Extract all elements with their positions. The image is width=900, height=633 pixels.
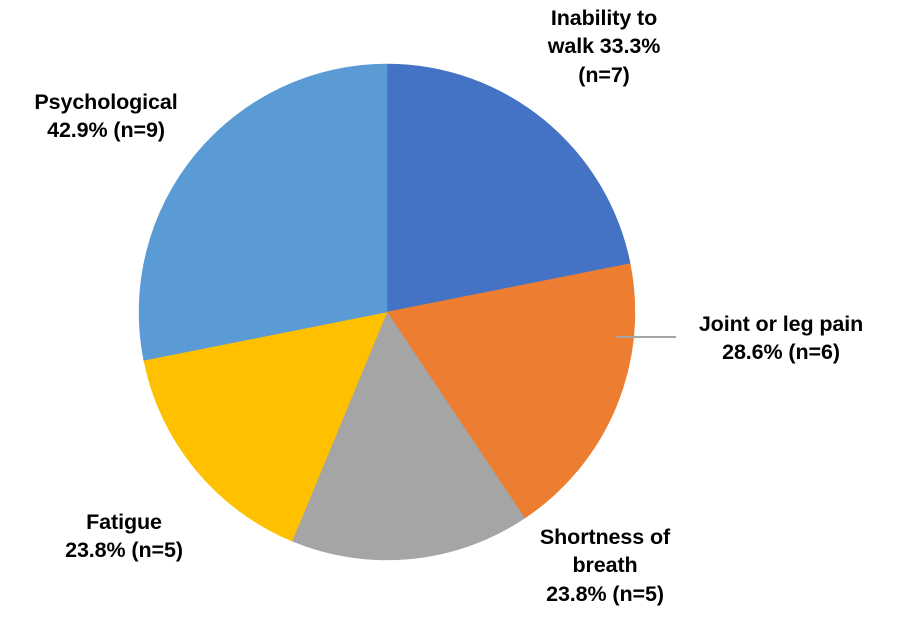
slice-label-psychological: Psychological 42.9% (n=9) — [0, 88, 212, 145]
pie-slice-group — [139, 64, 635, 560]
slice-label-joint-or-leg-pain: Joint or leg pain 28.6% (n=6) — [664, 310, 898, 367]
slice-label-shortness-of-breath: Shortness of breath 23.8% (n=5) — [492, 523, 718, 608]
slice-label-inability-to-walk: Inability to walk 33.3% (n=7) — [478, 4, 730, 89]
slice-label-fatigue: Fatigue 23.8% (n=5) — [16, 508, 232, 565]
pie-chart: Inability to walk 33.3% (n=7) Joint or l… — [0, 0, 900, 633]
